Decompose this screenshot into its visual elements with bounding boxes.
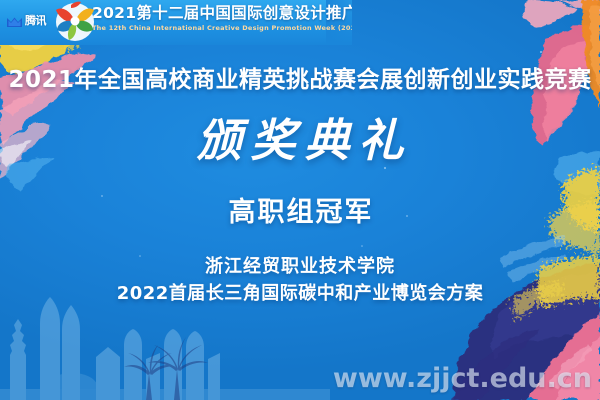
winner-project-name: 2022首届长三角国际碳中和产业博览会方案 <box>0 279 600 305</box>
award-category: 高职组冠军 <box>0 190 600 229</box>
site-watermark: www.zjjct.edu.cn <box>333 363 592 394</box>
ceremony-title: 颁奖典礼 <box>0 104 600 169</box>
winner-school-name: 浙江经贸职业技术学院 <box>0 252 600 278</box>
competition-title: 2021年全国高校商业精英挑战赛会展创新创业实践竞赛 <box>0 60 600 94</box>
award-ceremony-poster: 腾讯 2021第十二届中国国际创意设计推广周 The 12th China In… <box>0 0 600 400</box>
poster-content: 2021年全国高校商业精英挑战赛会展创新创业实践竞赛 颁奖典礼 高职组冠军 浙江… <box>0 0 600 400</box>
